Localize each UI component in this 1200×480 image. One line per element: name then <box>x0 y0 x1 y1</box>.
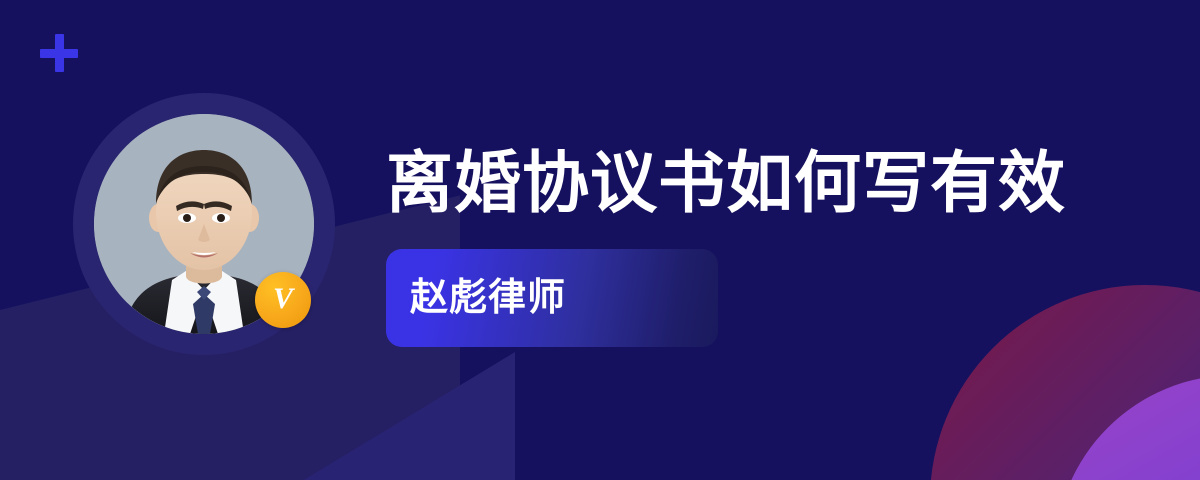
decorative-angled-slab-right <box>185 352 515 480</box>
verified-badge-icon: V <box>255 272 311 328</box>
decorative-gradient-orb-inner <box>1055 375 1200 480</box>
lawyer-name-chip[interactable]: 赵彪律师 <box>386 249 718 347</box>
page-title: 离婚协议书如何写有效 <box>386 150 1146 217</box>
plus-icon <box>40 34 78 72</box>
promo-banner: V 离婚协议书如何写有效 赵彪律师 <box>0 0 1200 480</box>
lawyer-name-label: 赵彪律师 <box>410 279 566 317</box>
plus-icon-vertical-bar <box>55 34 64 72</box>
banner-content: 离婚协议书如何写有效 赵彪律师 <box>386 150 1146 347</box>
verified-badge-glyph: V <box>273 284 293 314</box>
avatar[interactable]: V <box>73 93 335 355</box>
